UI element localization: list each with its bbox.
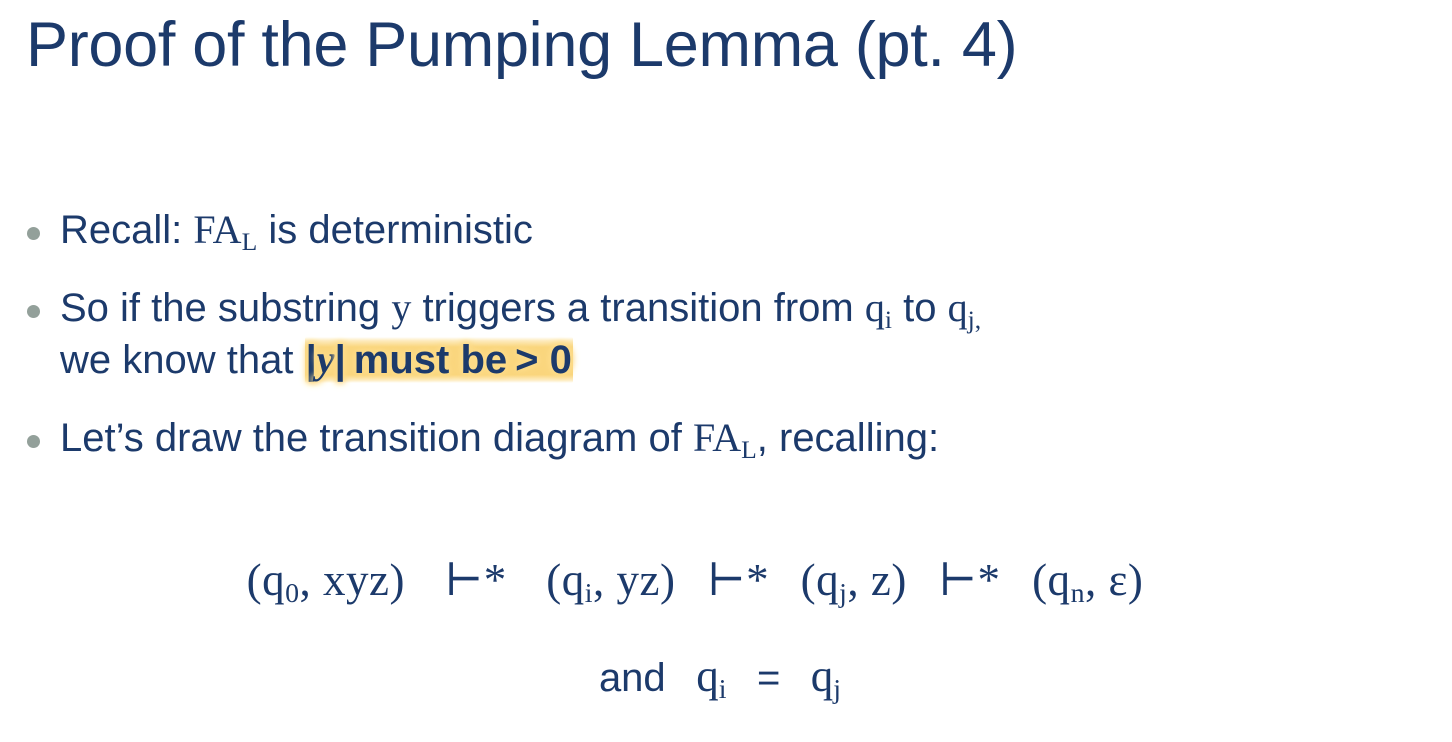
must-be-text: must be — [354, 338, 507, 382]
state-q-left-base: q — [696, 651, 719, 701]
bullet-1-symbol-base: FA — [193, 207, 241, 252]
config-3-open: (q — [801, 555, 840, 605]
highlighted-emphasis: |y|must be> 0 — [305, 337, 573, 383]
config-1-open: (q — [247, 555, 286, 605]
config-4-open: (q — [1032, 555, 1071, 605]
turnstile-2: ⊢* — [707, 555, 769, 605]
bullet-2-mid: triggers a transition from — [422, 286, 853, 330]
bullet-2-lead: So if the substring — [60, 286, 380, 330]
bullet-3-lead: Let’s draw the transition diagram of — [60, 416, 682, 460]
config-3-body: , z) — [847, 555, 906, 605]
page-title: Proof of the Pumping Lemma (pt. 4) — [26, 6, 1406, 84]
bullet-1-tail: is deterministic — [268, 208, 533, 252]
config-2-body: , yz) — [593, 555, 675, 605]
bullet-1-symbol: FAL — [193, 207, 257, 252]
bullet-2-to: to — [903, 286, 936, 330]
bullet-2-state-qi: qi — [865, 285, 892, 330]
state-q-right-base: q — [811, 651, 834, 701]
bullet-dot-icon — [27, 227, 40, 240]
bullet-2-line2-lead: we know that — [60, 338, 293, 382]
bullet-list: Recall: FAL is deterministic So if the s… — [0, 204, 1452, 464]
bullet-2-qi-base: q — [865, 285, 885, 330]
bullet-2-state-qj: qj, — [948, 285, 982, 330]
gt-zero-text: > 0 — [515, 338, 572, 382]
slide-canvas: Proof of the Pumping Lemma (pt. 4) Recal… — [0, 0, 1452, 742]
state-q-left: qi — [696, 651, 726, 701]
abs-var-y: y — [317, 337, 335, 382]
bullet-2-qj-subscript: j, — [968, 305, 982, 334]
equality-formula: and qi = qj — [0, 648, 1440, 706]
bullet-3-symbol-base: FA — [693, 415, 741, 460]
config-1: (q0, xyz) — [247, 555, 405, 605]
bullet-1-lead: Recall: — [60, 208, 182, 252]
config-2: (qi, yz) — [546, 555, 675, 605]
config-3-subscript: j — [839, 578, 847, 609]
bullet-3-tail: , recalling: — [757, 416, 939, 460]
config-1-subscript: 0 — [285, 578, 299, 609]
bullet-2-qi-subscript: i — [885, 305, 892, 334]
abs-bar-close: | — [335, 338, 346, 382]
config-1-body: , xyz) — [300, 555, 405, 605]
list-item-draw-diagram: Let’s draw the transition diagram of FAL… — [0, 412, 1452, 464]
list-item-substring: So if the substring y triggers a transit… — [0, 282, 1452, 386]
and-conjunction: and — [599, 656, 666, 700]
bullet-3-symbol-subscript: L — [741, 435, 757, 464]
equals-sign: = — [757, 656, 780, 700]
bullet-3-symbol: FAL — [693, 415, 757, 460]
config-3: (qj, z) — [801, 555, 907, 605]
config-2-subscript: i — [585, 578, 593, 609]
state-q-right-subscript: j — [833, 674, 841, 705]
turnstile-1: ⊢* — [445, 555, 507, 605]
state-q-right: qj — [811, 651, 841, 701]
config-4-body: , ε) — [1085, 555, 1143, 605]
abs-bar-open: | — [306, 338, 317, 382]
config-4-subscript: n — [1071, 578, 1085, 609]
config-2-open: (q — [546, 555, 585, 605]
bullet-dot-icon — [27, 305, 40, 318]
state-q-left-subscript: i — [719, 674, 727, 705]
config-4: (qn, ε) — [1032, 555, 1143, 605]
list-item-recall: Recall: FAL is deterministic — [0, 204, 1452, 256]
derivation-formula: (q0, xyz) ⊢* (qi, yz) ⊢* (qj, z) ⊢* (qn,… — [0, 552, 1390, 608]
bullet-dot-icon — [27, 435, 40, 448]
turnstile-3: ⊢* — [938, 555, 1000, 605]
bullet-2-var-y: y — [391, 285, 411, 330]
bullet-1-symbol-subscript: L — [242, 227, 258, 256]
bullet-2-qj-base: q — [948, 285, 968, 330]
